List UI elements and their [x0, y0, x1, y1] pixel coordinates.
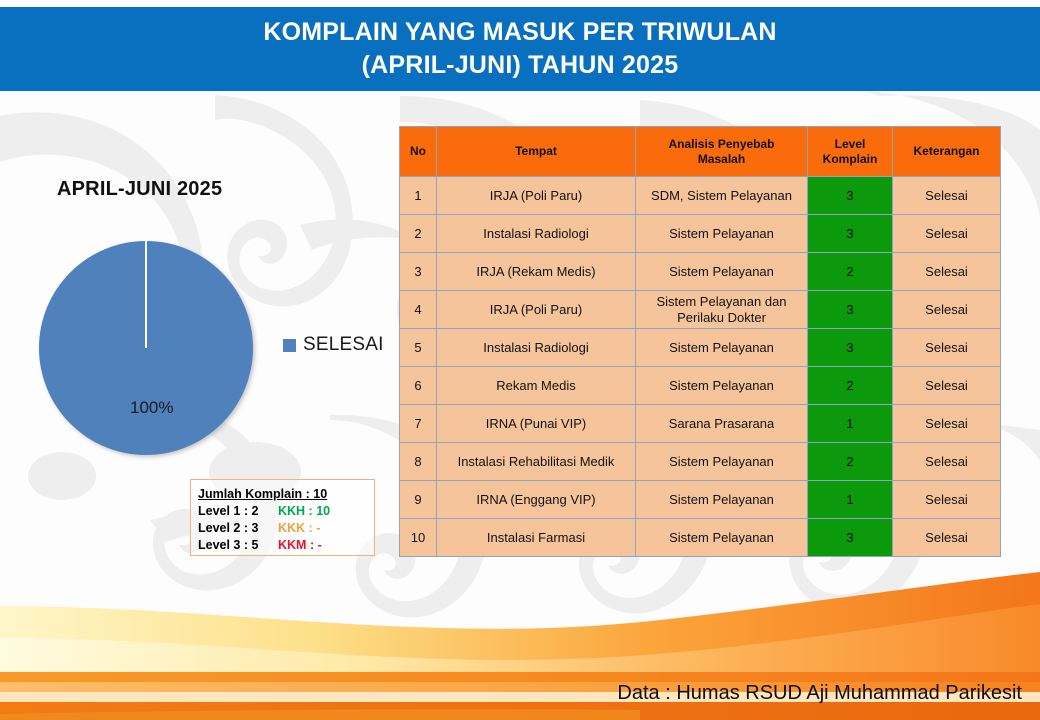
column-header-keterangan-l1: Keterangan	[896, 144, 997, 159]
cell-keterangan: Selesai	[893, 443, 1001, 481]
cell-analisis: Sistem Pelayanan	[636, 519, 808, 557]
cell-analisis: Sistem Pelayanan	[636, 329, 808, 367]
cell-level: 3	[808, 177, 893, 215]
table-row: 3 IRJA (Rekam Medis) Sistem Pelayanan 2 …	[400, 253, 1001, 291]
legend-label-selesai: SELESAI	[303, 334, 384, 356]
chart-title: APRIL-JUNI 2025	[57, 178, 222, 201]
column-header-no-l1: No	[403, 144, 433, 159]
column-header-level-l2: Komplain	[811, 152, 889, 167]
column-header-analisis: Analisis Penyebab Masalah	[636, 127, 808, 177]
cell-tempat: Instalasi Farmasi	[437, 519, 636, 557]
cell-analisis-l1: Sistem Pelayanan dan	[640, 294, 803, 310]
column-header-analisis-l2: Masalah	[639, 152, 804, 167]
summary-row-level3: Level 3 : 5KKM : -	[198, 537, 374, 554]
cell-level: 2	[808, 443, 893, 481]
cell-analisis: Sistem Pelayanan	[636, 253, 808, 291]
cell-no: 8	[400, 443, 437, 481]
table-row: 7 IRNA (Punai VIP) Sarana Prasarana 1 Se…	[400, 405, 1001, 443]
cell-analisis: Sistem Pelayanan	[636, 481, 808, 519]
cell-no: 4	[400, 291, 437, 329]
cell-tempat: Instalasi Radiologi	[437, 215, 636, 253]
cell-tempat: IRJA (Rekam Medis)	[437, 253, 636, 291]
column-header-level: Level Komplain	[808, 127, 893, 177]
cell-tempat: IRJA (Poli Paru)	[437, 177, 636, 215]
cell-analisis: SDM, Sistem Pelayanan	[636, 177, 808, 215]
pie-chart	[38, 240, 260, 462]
cell-tempat: IRJA (Poli Paru)	[437, 291, 636, 329]
cell-no: 2	[400, 215, 437, 253]
summary-level3-label: Level 3 : 5	[198, 537, 278, 554]
cell-keterangan: Selesai	[893, 329, 1001, 367]
cell-analisis-l1: Sistem Pelayanan	[640, 378, 803, 394]
cell-keterangan: Selesai	[893, 291, 1001, 329]
cell-level: 1	[808, 481, 893, 519]
complaint-summary-box: Jumlah Komplain : 10 Level 1 : 2KKH : 10…	[190, 479, 375, 556]
table-row: 6 Rekam Medis Sistem Pelayanan 2 Selesai	[400, 367, 1001, 405]
cell-no: 9	[400, 481, 437, 519]
column-header-no: No	[400, 127, 437, 177]
cell-no: 3	[400, 253, 437, 291]
cell-analisis-l1: Sistem Pelayanan	[640, 492, 803, 508]
column-header-keterangan: Keterangan	[893, 127, 1001, 177]
slide-canvas: KOMPLAIN YANG MASUK PER TRIWULAN (APRIL-…	[0, 0, 1040, 720]
cell-no: 10	[400, 519, 437, 557]
summary-kkm-value: KKM : -	[278, 538, 322, 552]
cell-tempat: IRNA (Enggang VIP)	[437, 481, 636, 519]
table-row: 9 IRNA (Enggang VIP) Sistem Pelayanan 1 …	[400, 481, 1001, 519]
cell-analisis-l1: Sistem Pelayanan	[640, 530, 803, 546]
cell-tempat: Instalasi Rehabilitasi Medik	[437, 443, 636, 481]
table-row: 2 Instalasi Radiologi Sistem Pelayanan 3…	[400, 215, 1001, 253]
cell-level: 2	[808, 253, 893, 291]
cell-tempat: Instalasi Radiologi	[437, 329, 636, 367]
cell-level: 3	[808, 215, 893, 253]
table-row: 4 IRJA (Poli Paru) Sistem Pelayanan dan …	[400, 291, 1001, 329]
cell-analisis-l1: Sistem Pelayanan	[640, 226, 803, 242]
cell-analisis-l1: Sistem Pelayanan	[640, 340, 803, 356]
column-header-tempat-l1: Tempat	[440, 144, 632, 159]
slide-title-band: KOMPLAIN YANG MASUK PER TRIWULAN (APRIL-…	[0, 7, 1040, 91]
cell-tempat: Rekam Medis	[437, 367, 636, 405]
column-header-level-l1: Level	[811, 137, 889, 152]
cell-keterangan: Selesai	[893, 253, 1001, 291]
pie-data-label: 100%	[130, 398, 173, 418]
cell-keterangan: Selesai	[893, 215, 1001, 253]
cell-analisis: Sistem Pelayanan	[636, 215, 808, 253]
cell-no: 7	[400, 405, 437, 443]
cell-no: 6	[400, 367, 437, 405]
cell-analisis-l1: Sistem Pelayanan	[640, 454, 803, 470]
cell-tempat: IRNA (Punai VIP)	[437, 405, 636, 443]
cell-analisis: Sistem Pelayanan	[636, 367, 808, 405]
summary-level1-label: Level 1 : 2	[198, 503, 278, 520]
complaints-table: No Tempat Analisis Penyebab Masalah Leve…	[399, 126, 1001, 557]
table-body: 1 IRJA (Poli Paru) SDM, Sistem Pelayanan…	[400, 177, 1001, 557]
cell-level: 3	[808, 519, 893, 557]
table-row: 10 Instalasi Farmasi Sistem Pelayanan 3 …	[400, 519, 1001, 557]
cell-keterangan: Selesai	[893, 481, 1001, 519]
cell-level: 3	[808, 329, 893, 367]
legend-swatch-selesai	[283, 339, 296, 352]
cell-keterangan: Selesai	[893, 405, 1001, 443]
table-header-row: No Tempat Analisis Penyebab Masalah Leve…	[400, 127, 1001, 177]
cell-keterangan: Selesai	[893, 367, 1001, 405]
summary-kkk-value: KKK : -	[278, 521, 320, 535]
table-row: 1 IRJA (Poli Paru) SDM, Sistem Pelayanan…	[400, 177, 1001, 215]
cell-analisis-l1: Sistem Pelayanan	[640, 264, 803, 280]
cell-level: 1	[808, 405, 893, 443]
wave-band-3	[0, 672, 1040, 682]
cell-analisis-l2: Perilaku Dokter	[640, 310, 803, 326]
table-row: 8 Instalasi Rehabilitasi Medik Sistem Pe…	[400, 443, 1001, 481]
cell-keterangan: Selesai	[893, 177, 1001, 215]
cell-no: 5	[400, 329, 437, 367]
summary-row-level2: Level 2 : 3KKK : -	[198, 520, 374, 537]
summary-row-level1: Level 1 : 2KKH : 10	[198, 503, 374, 520]
title-line-2: (APRIL-JUNI) TAHUN 2025	[362, 49, 679, 82]
cell-analisis-l1: Sarana Prasarana	[640, 416, 803, 432]
column-header-tempat: Tempat	[437, 127, 636, 177]
column-header-analisis-l1: Analisis Penyebab	[639, 137, 804, 152]
cell-level: 2	[808, 367, 893, 405]
cell-analisis-l1: SDM, Sistem Pelayanan	[640, 188, 803, 204]
cell-analisis: Sistem Pelayanan	[636, 443, 808, 481]
summary-kkh-value: KKH : 10	[278, 504, 330, 518]
cell-keterangan: Selesai	[893, 519, 1001, 557]
cell-no: 1	[400, 177, 437, 215]
summary-level2-label: Level 2 : 3	[198, 520, 278, 537]
cell-level: 3	[808, 291, 893, 329]
title-line-1: KOMPLAIN YANG MASUK PER TRIWULAN	[263, 16, 776, 49]
table-row: 5 Instalasi Radiologi Sistem Pelayanan 3…	[400, 329, 1001, 367]
cell-analisis: Sarana Prasarana	[636, 405, 808, 443]
cell-analisis: Sistem Pelayanan dan Perilaku Dokter	[636, 291, 808, 329]
footer-source-text: Data : Humas RSUD Aji Muhammad Parikesit	[617, 682, 1022, 705]
chart-legend: SELESAI	[283, 334, 384, 356]
summary-total: Jumlah Komplain : 10	[198, 485, 374, 503]
